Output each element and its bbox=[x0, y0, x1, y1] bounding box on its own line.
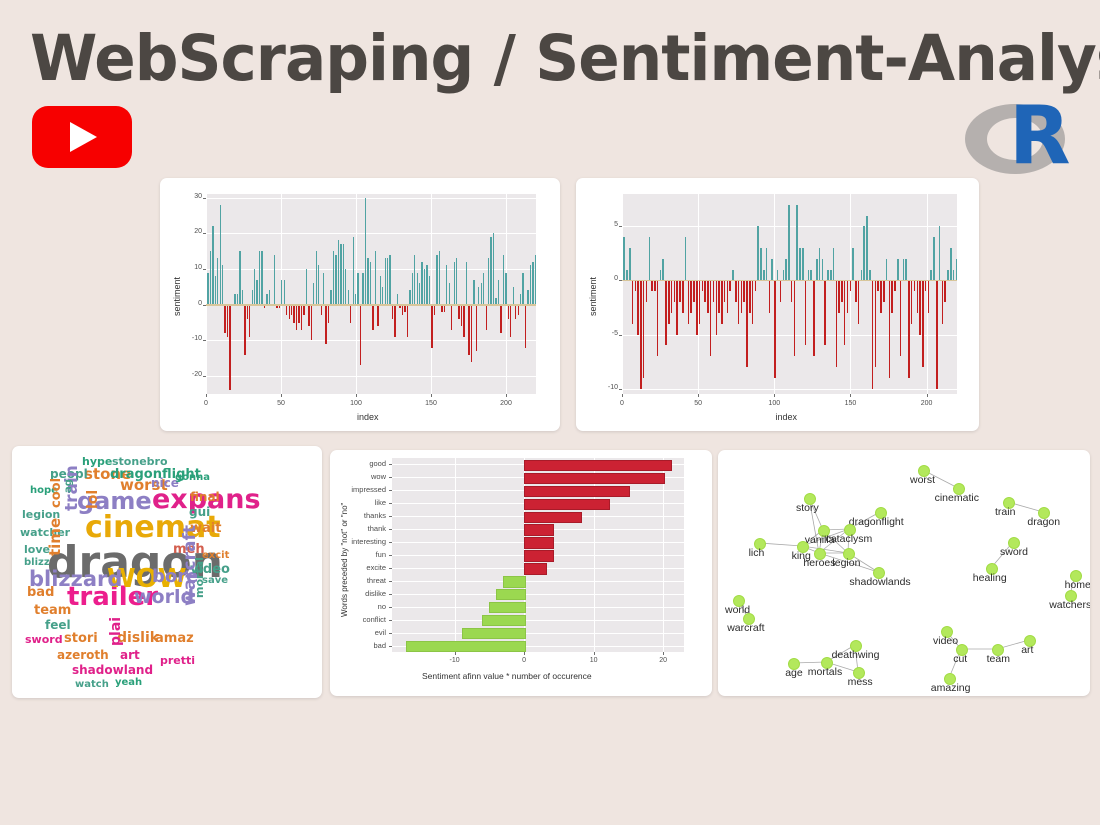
data-bar bbox=[883, 280, 885, 302]
data-bar bbox=[632, 280, 634, 323]
x-axis-tick-label: 0 bbox=[196, 400, 216, 407]
data-bar bbox=[933, 237, 935, 280]
data-bar bbox=[424, 269, 425, 305]
data-bar bbox=[409, 290, 410, 304]
network-node-label: worst bbox=[910, 474, 935, 486]
data-bar bbox=[242, 290, 243, 304]
y-axis-tick-label: -20 bbox=[184, 371, 202, 378]
x-axis-tick-label: 0 bbox=[512, 657, 536, 664]
network-node-label: cataclysm bbox=[826, 533, 873, 545]
data-bar bbox=[637, 280, 639, 334]
data-bar bbox=[836, 280, 838, 366]
data-bar bbox=[928, 280, 930, 312]
data-bar bbox=[930, 270, 932, 281]
wordcloud-word: gonna bbox=[175, 473, 210, 483]
data-bar bbox=[316, 251, 317, 305]
data-bar bbox=[805, 280, 807, 345]
data-bar bbox=[338, 240, 339, 304]
data-bar bbox=[256, 280, 257, 305]
data-bar bbox=[816, 259, 818, 281]
x-axis-tick-label: -10 bbox=[443, 657, 467, 664]
data-bar bbox=[394, 305, 395, 337]
network-node-label: age bbox=[785, 667, 803, 679]
play-triangle-icon bbox=[70, 122, 97, 152]
data-bar bbox=[321, 305, 322, 316]
gridline-vertical bbox=[622, 194, 623, 394]
data-bar bbox=[651, 280, 653, 291]
network-node-label: cinematic bbox=[935, 492, 979, 504]
data-bar bbox=[911, 280, 913, 323]
data-bar bbox=[635, 280, 637, 291]
data-bar bbox=[721, 280, 723, 323]
data-bar bbox=[649, 237, 651, 280]
wordcloud-word: gui bbox=[189, 506, 210, 518]
wordcloud-word: cool bbox=[50, 478, 63, 508]
data-bar bbox=[461, 305, 462, 326]
data-bar bbox=[858, 280, 860, 323]
wordcloud-word: lol bbox=[86, 490, 100, 509]
x-axis-tick-label: 10 bbox=[582, 657, 606, 664]
data-bar bbox=[802, 248, 804, 280]
data-bar bbox=[488, 258, 489, 304]
gridline-horizontal bbox=[622, 389, 957, 390]
x-axis-tick-label: 150 bbox=[840, 400, 860, 407]
data-bar bbox=[350, 305, 351, 323]
zero-reference-line bbox=[622, 280, 957, 282]
x-axis-label: index bbox=[357, 412, 379, 422]
data-bar bbox=[392, 305, 393, 319]
data-bar bbox=[643, 280, 645, 377]
x-axis-tick-label: 50 bbox=[271, 400, 291, 407]
data-bar bbox=[489, 602, 526, 613]
data-bar bbox=[355, 294, 356, 305]
data-bar bbox=[296, 305, 297, 330]
data-bar bbox=[819, 248, 821, 280]
x-axis-tick-mark bbox=[622, 394, 623, 397]
data-bar bbox=[813, 280, 815, 356]
data-bar bbox=[234, 294, 235, 305]
data-bar bbox=[905, 259, 907, 281]
data-bar bbox=[640, 280, 642, 388]
y-axis-tick-label: -10 bbox=[600, 384, 618, 391]
wordcloud-word: yeah bbox=[115, 678, 142, 688]
page-header: WebScraping / Sentiment-Analysis R bbox=[0, 0, 1100, 178]
data-bar bbox=[827, 270, 829, 281]
y-axis-label: sentiment bbox=[172, 277, 182, 316]
data-bar bbox=[718, 280, 720, 312]
data-bar bbox=[431, 305, 432, 348]
data-bar bbox=[274, 255, 275, 305]
data-bar bbox=[357, 273, 358, 305]
network-node-label: video bbox=[933, 635, 958, 647]
x-axis-tick-mark bbox=[594, 652, 595, 655]
data-bar bbox=[239, 251, 240, 305]
data-bar bbox=[406, 641, 526, 652]
y-axis-category-label: interesting bbox=[330, 537, 386, 546]
data-bar bbox=[335, 255, 336, 305]
data-bar bbox=[822, 259, 824, 281]
data-bar bbox=[530, 265, 531, 304]
data-bar bbox=[328, 305, 329, 323]
data-bar bbox=[783, 270, 785, 281]
wordcloud-word: art bbox=[120, 649, 140, 661]
x-axis-tick-label: 20 bbox=[651, 657, 675, 664]
network-node-label: home bbox=[1065, 579, 1090, 591]
data-bar bbox=[729, 280, 731, 291]
data-bar bbox=[880, 280, 882, 312]
data-bar bbox=[908, 280, 910, 377]
data-bar bbox=[483, 273, 484, 305]
x-axis-tick-mark bbox=[431, 394, 432, 397]
x-axis-tick-mark bbox=[774, 394, 775, 397]
data-bar bbox=[508, 305, 509, 319]
network-node-label: dragonflight bbox=[849, 516, 904, 528]
data-bar bbox=[699, 280, 701, 323]
data-bar bbox=[343, 244, 344, 305]
data-bar bbox=[866, 216, 868, 281]
network-node-label: lich bbox=[749, 547, 765, 559]
youtube-play-icon[interactable] bbox=[32, 106, 132, 168]
data-bar bbox=[458, 305, 459, 319]
data-bar bbox=[780, 280, 782, 302]
data-bar bbox=[389, 255, 390, 305]
data-bar bbox=[434, 305, 435, 316]
data-bar bbox=[468, 305, 469, 355]
data-bar bbox=[254, 269, 255, 305]
data-bar bbox=[850, 280, 852, 291]
data-bar bbox=[732, 270, 734, 281]
data-bar bbox=[808, 270, 810, 281]
network-node-label: warcraft bbox=[727, 622, 764, 634]
data-bar bbox=[917, 280, 919, 312]
data-bar bbox=[524, 537, 554, 548]
data-bar bbox=[402, 305, 403, 316]
data-bar bbox=[524, 460, 672, 471]
data-bar bbox=[340, 244, 341, 305]
data-bar bbox=[249, 305, 250, 337]
data-bar bbox=[308, 305, 309, 326]
wordcloud-word: mortal bbox=[194, 557, 205, 598]
data-bar bbox=[370, 262, 371, 305]
y-axis-tick-mark bbox=[389, 620, 392, 621]
data-bar bbox=[429, 276, 430, 305]
wordcloud-word: excit bbox=[202, 551, 229, 561]
data-bar bbox=[524, 550, 554, 561]
wordcloud-word: feel bbox=[45, 619, 71, 631]
data-bar bbox=[333, 251, 334, 305]
data-bar bbox=[838, 280, 840, 312]
data-bar bbox=[626, 270, 628, 281]
data-bar bbox=[412, 273, 413, 305]
data-bar bbox=[710, 280, 712, 356]
data-bar bbox=[944, 280, 946, 302]
data-bar bbox=[676, 280, 678, 334]
data-bar bbox=[524, 512, 582, 523]
data-bar bbox=[353, 237, 354, 305]
wordcloud-word: azeroth bbox=[57, 649, 109, 661]
data-bar bbox=[900, 280, 902, 356]
data-bar bbox=[441, 305, 442, 312]
x-axis-tick-mark bbox=[663, 652, 664, 655]
gridline-horizontal bbox=[392, 581, 684, 582]
x-axis-tick-label: 200 bbox=[917, 400, 937, 407]
data-bar bbox=[794, 280, 796, 356]
data-bar bbox=[325, 305, 326, 344]
data-bar bbox=[525, 305, 526, 348]
data-bar bbox=[956, 259, 958, 281]
data-bar bbox=[284, 280, 285, 305]
y-axis-tick-mark bbox=[389, 503, 392, 504]
data-bar bbox=[685, 237, 687, 280]
y-axis-tick-mark bbox=[389, 646, 392, 647]
x-axis-tick-mark bbox=[524, 652, 525, 655]
data-bar bbox=[220, 205, 221, 305]
gridline-horizontal bbox=[392, 620, 684, 621]
data-bar bbox=[623, 237, 625, 280]
wordcloud-word: team bbox=[34, 604, 71, 617]
x-axis-tick-label: 100 bbox=[764, 400, 784, 407]
data-bar bbox=[889, 280, 891, 377]
data-bar bbox=[360, 305, 361, 366]
data-bar bbox=[481, 283, 482, 304]
data-bar bbox=[925, 280, 927, 291]
y-axis-tick-label: 0 bbox=[600, 275, 618, 282]
data-bar bbox=[244, 305, 245, 355]
data-bar bbox=[404, 305, 405, 312]
data-bar bbox=[318, 265, 319, 304]
data-bar bbox=[752, 280, 754, 323]
data-bar bbox=[702, 280, 704, 291]
chart-panel-bigram-network: worstcinematictraindragonstoryvanilladra… bbox=[718, 450, 1090, 696]
y-axis-tick-mark bbox=[389, 490, 392, 491]
data-bar bbox=[439, 251, 440, 305]
network-node-label: cut bbox=[953, 653, 967, 665]
y-axis-label: Words preceded by "not" or "no" bbox=[340, 503, 349, 617]
data-bar bbox=[505, 273, 506, 305]
gridline-vertical bbox=[850, 194, 851, 394]
data-bar bbox=[749, 280, 751, 312]
chart-panel-wordcloud: dragoncinematexpanstrailerWOWblizzardgam… bbox=[12, 446, 322, 698]
data-bar bbox=[824, 280, 826, 345]
data-bar bbox=[217, 258, 218, 304]
data-bar bbox=[397, 294, 398, 305]
data-bar bbox=[535, 255, 536, 305]
wordcloud-word: shadowland bbox=[72, 664, 153, 676]
y-axis-tick-mark bbox=[389, 516, 392, 517]
r-logo-letter: R bbox=[1009, 94, 1071, 178]
wordcloud-word: final bbox=[190, 491, 220, 503]
y-axis-tick-mark bbox=[389, 581, 392, 582]
data-bar bbox=[894, 280, 896, 291]
data-bar bbox=[665, 280, 667, 345]
data-bar bbox=[671, 280, 673, 312]
data-bar bbox=[414, 255, 415, 305]
data-bar bbox=[532, 262, 533, 305]
data-bar bbox=[763, 270, 765, 281]
y-axis-tick-mark bbox=[389, 542, 392, 543]
data-bar bbox=[365, 198, 366, 305]
gridline-horizontal bbox=[392, 594, 684, 595]
data-bar bbox=[861, 270, 863, 281]
data-bar bbox=[919, 280, 921, 334]
data-bar bbox=[741, 280, 743, 312]
y-axis-category-label: thank bbox=[330, 524, 386, 533]
data-bar bbox=[524, 524, 554, 535]
network-edges bbox=[718, 450, 1090, 696]
data-bar bbox=[855, 280, 857, 302]
wordcloud-word: plai bbox=[109, 617, 123, 646]
y-axis-category-label: good bbox=[330, 459, 386, 468]
data-bar bbox=[679, 280, 681, 302]
data-bar bbox=[693, 280, 695, 302]
wordcloud-word: bad bbox=[27, 586, 54, 599]
data-bar bbox=[755, 280, 757, 291]
network-node-label: shadowlands bbox=[849, 576, 910, 588]
data-bar bbox=[872, 280, 874, 388]
data-bar bbox=[293, 305, 294, 323]
data-bar bbox=[426, 265, 427, 304]
data-bar bbox=[387, 258, 388, 304]
data-bar bbox=[760, 248, 762, 280]
r-language-logo: R bbox=[965, 98, 1075, 182]
network-node-label: deathwing bbox=[832, 649, 880, 661]
data-bar bbox=[247, 305, 248, 319]
network-node-label: story bbox=[796, 502, 819, 514]
wordcloud-word: stonebro bbox=[112, 456, 168, 467]
data-bar bbox=[810, 270, 812, 281]
data-bar bbox=[289, 305, 290, 319]
data-bar bbox=[657, 280, 659, 356]
data-bar bbox=[286, 305, 287, 316]
data-bar bbox=[382, 287, 383, 305]
y-axis-tick-label: 10 bbox=[184, 264, 202, 271]
y-axis-category-label: no bbox=[330, 602, 386, 611]
data-bar bbox=[524, 486, 630, 497]
data-bar bbox=[380, 276, 381, 305]
y-axis-label: sentiment bbox=[588, 277, 598, 316]
data-bar bbox=[724, 280, 726, 302]
wordcloud-word: hype bbox=[82, 456, 112, 467]
data-bar bbox=[311, 305, 312, 341]
data-bar bbox=[486, 305, 487, 330]
x-axis-label: Sentiment afinn value * number of occure… bbox=[422, 671, 592, 681]
data-bar bbox=[796, 205, 798, 281]
chart-panel-negated-bigrams: -1001020goodwowimpressedlikethanksthanki… bbox=[330, 450, 712, 696]
data-bar bbox=[785, 259, 787, 281]
data-bar bbox=[863, 226, 865, 280]
x-axis-tick-mark bbox=[356, 394, 357, 397]
data-bar bbox=[746, 280, 748, 366]
network-node-label: watchers bbox=[1049, 599, 1090, 611]
data-bar bbox=[897, 259, 899, 281]
data-bar bbox=[503, 255, 504, 305]
data-bar bbox=[212, 226, 213, 305]
data-bar bbox=[482, 615, 526, 626]
data-bar bbox=[704, 280, 706, 302]
y-axis-category-label: excite bbox=[330, 563, 386, 572]
data-bar bbox=[520, 294, 521, 305]
x-axis-tick-label: 200 bbox=[496, 400, 516, 407]
gridline-horizontal bbox=[622, 335, 957, 336]
data-bar bbox=[266, 294, 267, 305]
data-bar bbox=[696, 280, 698, 334]
network-node-label: art bbox=[1021, 644, 1033, 656]
wordcloud-word: watch bbox=[75, 680, 109, 690]
data-bar bbox=[500, 305, 501, 334]
data-bar bbox=[229, 305, 230, 391]
page-title: WebScraping / Sentiment-Analysis bbox=[30, 22, 1100, 95]
data-bar bbox=[707, 280, 709, 312]
data-bar bbox=[766, 248, 768, 280]
network-node-label: mess bbox=[848, 676, 873, 688]
y-axis-tick-mark bbox=[389, 529, 392, 530]
network-node-label: train bbox=[995, 506, 1015, 518]
data-bar bbox=[348, 290, 349, 304]
data-bar bbox=[446, 265, 447, 304]
data-bar bbox=[362, 273, 363, 305]
data-bar bbox=[224, 305, 225, 334]
network-node-label: legion bbox=[832, 557, 860, 569]
data-bar bbox=[323, 273, 324, 305]
data-bar bbox=[524, 499, 609, 510]
data-bar bbox=[668, 280, 670, 323]
data-bar bbox=[518, 305, 519, 316]
gridline-horizontal bbox=[206, 340, 536, 341]
x-axis-tick-mark bbox=[281, 394, 282, 397]
data-bar bbox=[788, 205, 790, 281]
data-bar bbox=[421, 262, 422, 305]
gridline-horizontal bbox=[206, 376, 536, 377]
data-bar bbox=[947, 270, 949, 281]
data-bar bbox=[478, 287, 479, 305]
data-bar bbox=[510, 305, 511, 337]
data-bar bbox=[674, 280, 676, 302]
network-node-label: team bbox=[987, 653, 1010, 665]
x-axis-tick-label: 0 bbox=[612, 400, 632, 407]
x-axis-tick-mark bbox=[927, 394, 928, 397]
data-bar bbox=[939, 226, 941, 280]
y-axis-category-label: threat bbox=[330, 576, 386, 585]
chart-panel-timeseries-bing: -20-100102030050100150200indexsentiment bbox=[160, 178, 560, 431]
network-node-label: healing bbox=[973, 572, 1007, 584]
data-bar bbox=[454, 262, 455, 305]
data-bar bbox=[646, 280, 648, 302]
y-axis-tick-label: 30 bbox=[184, 193, 202, 200]
data-bar bbox=[372, 305, 373, 330]
data-bar bbox=[301, 305, 302, 330]
data-bar bbox=[498, 280, 499, 305]
data-bar bbox=[451, 305, 452, 330]
y-axis-tick-label: -5 bbox=[600, 330, 618, 337]
data-bar bbox=[417, 273, 418, 305]
data-bar bbox=[524, 563, 547, 574]
data-bar bbox=[799, 248, 801, 280]
y-axis-category-label: bad bbox=[330, 641, 386, 650]
y-axis-tick-mark bbox=[389, 555, 392, 556]
y-axis-category-label: evil bbox=[330, 628, 386, 637]
data-bar bbox=[252, 290, 253, 304]
data-bar bbox=[303, 305, 304, 316]
data-bar bbox=[688, 280, 690, 323]
data-bar bbox=[716, 280, 718, 334]
data-bar bbox=[791, 280, 793, 302]
data-bar bbox=[852, 248, 854, 280]
data-bar bbox=[222, 265, 223, 304]
data-bar bbox=[527, 290, 528, 304]
data-bar bbox=[345, 269, 346, 305]
data-bar bbox=[493, 233, 494, 304]
data-bar bbox=[682, 280, 684, 312]
